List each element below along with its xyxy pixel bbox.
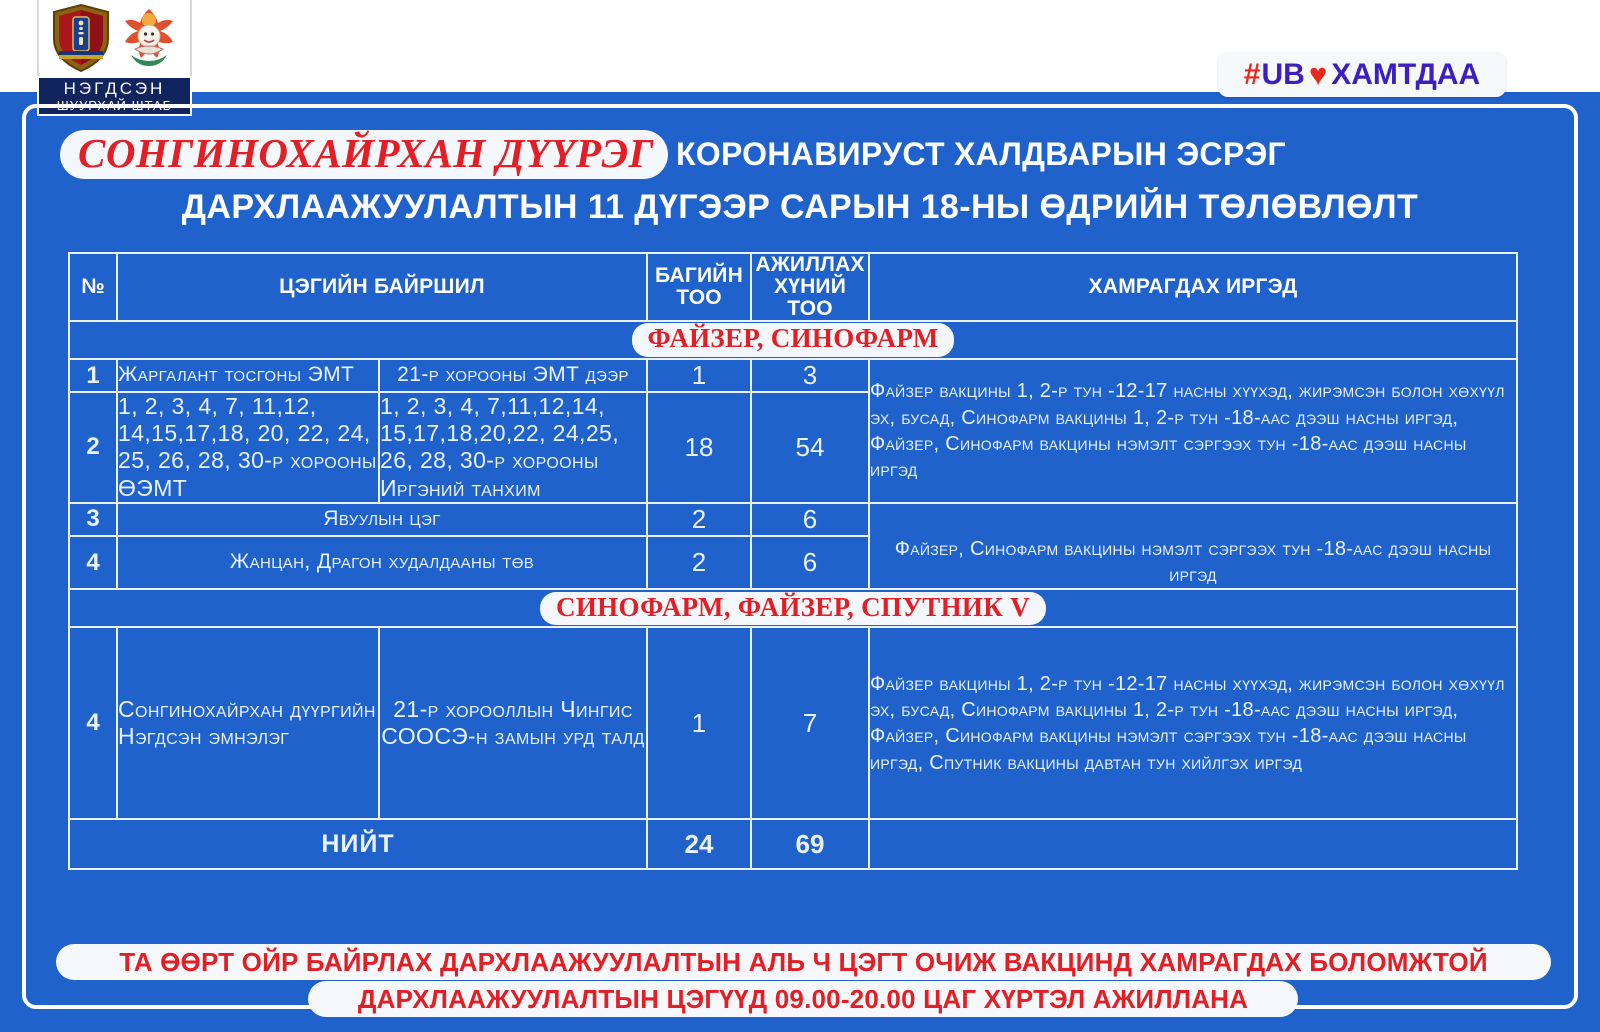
header-team-count: БАГИЙН ТОО [647,253,751,321]
row-staff-count: 6 [751,503,869,536]
row-number: 1 [69,359,117,392]
row-citizens-description: Файзер вакцины 1, 2-р тун -12-17 насны х… [869,627,1517,819]
section-banner-cell-1: ФАЙЗЕР, СИНОФАРМ [69,321,1517,359]
row-number: 2 [69,392,117,503]
section-banner-row-2: СИНОФАРМ, ФАЙЗЕР, СПУТНИК V [69,589,1517,627]
row-location-merged: Жанцан, Драгон худалдааны төв [117,536,647,590]
section-banner-cell-2: СИНОФАРМ, ФАЙЗЕР, СПУТНИК V [69,589,1517,627]
footer-line-1: ТА ӨӨРТ ОЙР БАЙРЛАХ ДАРХЛААЖУУЛАЛТЫН АЛЬ… [56,944,1551,980]
row-number: 4 [69,536,117,590]
district-title-pill: СОНГИНОХАЙРХАН ДҮҮРЭГ [60,130,668,179]
table-row: 4 Сонгинохайрхан дүүргийн Нэгдсэн эмнэлэ… [69,627,1517,819]
logo-box [37,0,192,78]
row-location-secondary: 21-р хорооны ЭМТ дээр [379,359,647,392]
row-number: 3 [69,503,117,536]
row-staff-count: 54 [751,392,869,503]
row-location-secondary: 21-р хорооллын Чингис СООСЭ-н замын урд … [379,627,647,819]
footer-line-2: ДАРХЛААЖУУЛАЛТЫН ЦЭГҮҮД 09.00-20.00 ЦАГ … [308,981,1298,1017]
poster-title-row: СОНГИНОХАЙРХАН ДҮҮРЭГ КОРОНАВИРУСТ ХАЛДВ… [60,128,1550,180]
police-shield-icon [50,3,112,73]
section-title-2: СИНОФАРМ, ФАЙЗЕР, СПУТНИК V [540,592,1046,626]
table-total-row: НИЙТ 24 69 [69,819,1517,869]
total-label: НИЙТ [69,819,647,869]
row-team-count: 2 [647,536,751,590]
table-header-row: № ЦЭГИЙН БАЙРШИЛ БАГИЙН ТОО АЖИЛЛАХ ХҮНИ… [69,253,1517,321]
row-location-primary: Сонгинохайрхан дүүргийн Нэгдсэн эмнэлэг [117,627,379,819]
section-title-1: ФАЙЗЕР, СИНОФАРМ [632,323,955,357]
ub-text: UB [1261,58,1304,92]
row-location-primary: 1, 2, 3, 4, 7, 11,12, 14,15,17,18, 20, 2… [117,392,379,503]
row-team-count: 2 [647,503,751,536]
vaccination-schedule-table: № ЦЭГИЙН БАЙРШИЛ БАГИЙН ТОО АЖИЛЛАХ ХҮНИ… [68,252,1518,870]
heart-icon: ♥ [1309,59,1327,90]
row-staff-count: 7 [751,627,869,819]
row-citizens-description: Файзер вакцины 1, 2-р тун -12-17 насны х… [869,359,1517,503]
row-staff-count: 6 [751,536,869,590]
district-title: СОНГИНОХАЙРХАН ДҮҮРЭГ [78,130,654,176]
header-citizens: ХАМРАГДАХ ИРГЭД [869,253,1517,321]
total-team-count: 24 [647,819,751,869]
section-banner-row-1: ФАЙЗЕР, СИНОФАРМ [69,321,1517,359]
total-empty-cell [869,819,1517,869]
row-staff-count: 3 [751,359,869,392]
ub-hamtdaa-badge: # UB ♥ ХАМТДАА [1218,52,1506,97]
row-citizens-description: Файзер, Синофарм вакцины нэмэлт сэргээх … [869,536,1517,590]
row-number: 4 [69,627,117,819]
header-no: № [69,253,117,321]
title-line2: ДАРХЛААЖУУЛАЛТЫН 11 ДҮГЭЭР САРЫН 18-НЫ Ө… [0,188,1600,227]
hamtdaa-text: ХАМТДАА [1331,58,1480,92]
row-location-secondary: 1, 2, 3, 4, 7,11,12,14, 15,17,18,20,22, … [379,392,647,503]
row-location-merged: Явуулын цэг [117,503,647,536]
table-row: 3 Явуулын цэг 2 6 [69,503,1517,536]
header-staff-count: АЖИЛЛАХ ХҮНИЙ ТОО [751,253,869,321]
hash-symbol: # [1244,58,1260,92]
citizens-spacer-cell [869,503,1517,536]
org-plate-line1: НЭГДСЭН [64,80,166,97]
total-staff-count: 69 [751,819,869,869]
state-emblem-icon [118,3,180,73]
table-row: 1 Жаргалант тосгоны ЭМТ 21-р хорооны ЭМТ… [69,359,1517,392]
row-team-count: 18 [647,392,751,503]
row-location-primary: Жаргалант тосгоны ЭМТ [117,359,379,392]
row-team-count: 1 [647,627,751,819]
header-location: ЦЭГИЙН БАЙРШИЛ [117,253,647,321]
title-line1-rest: КОРОНАВИРУСТ ХАЛДВАРЫН ЭСРЭГ [676,136,1286,173]
row-team-count: 1 [647,359,751,392]
table-row: 4 Жанцан, Драгон худалдааны төв 2 6 Файз… [69,536,1517,590]
